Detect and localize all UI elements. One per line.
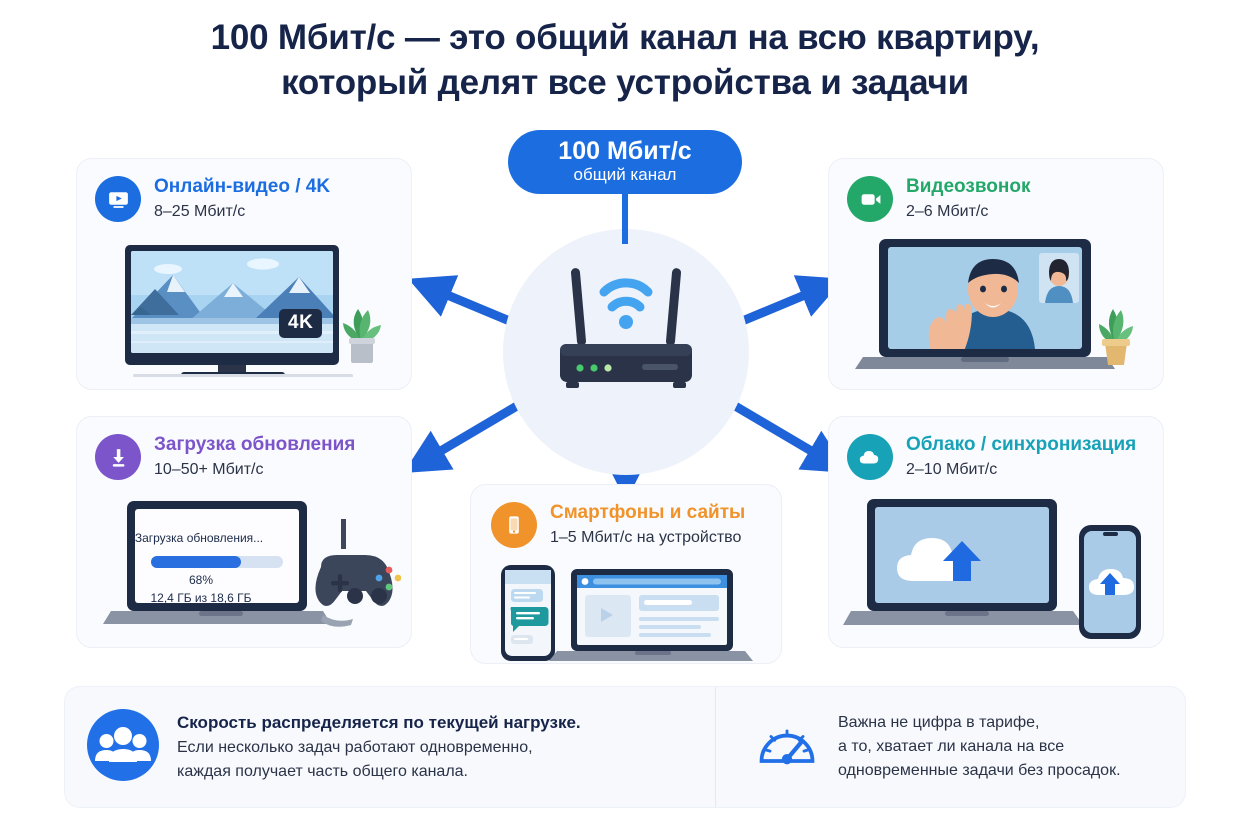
play-video-icon	[95, 176, 141, 222]
video-camera-icon	[847, 176, 893, 222]
wifi-router-icon	[520, 250, 732, 398]
hub-stem	[622, 192, 628, 244]
download-percent: 68%	[45, 573, 357, 587]
footer-right-line-3: одновременные задачи без просадок.	[838, 759, 1121, 783]
footer-right-text: Важна не цифра в тарифе, а то, хватает л…	[838, 711, 1121, 784]
tv-illustration: 4K	[93, 245, 393, 382]
card-header: Загрузка обновления 10–50+ Мбит/с	[77, 417, 411, 482]
download-illustration: Загрузка обновления... 68% 12,4 ГБ из 18…	[89, 501, 401, 651]
card-subtitle: 8–25 Мбит/с	[154, 200, 330, 224]
card-header: Онлайн-видео / 4K 8–25 Мбит/с	[77, 159, 411, 224]
footer-left-headline: Скорость распределяется по текущей нагру…	[177, 710, 581, 736]
download-size: 12,4 ГБ из 18,6 ГБ	[45, 591, 357, 605]
card-subtitle: 2–10 Мбит/с	[906, 458, 1136, 482]
footer-right-line-2: а то, хватает ли канала на все	[838, 735, 1121, 759]
card-subtitle: 10–50+ Мбит/с	[154, 458, 355, 482]
arrow-to-video	[428, 287, 512, 322]
card-subtitle: 2–6 Мбит/с	[906, 200, 1030, 224]
hub-speed: 100 Мбит/с	[558, 138, 691, 164]
footer-right-column: Важна не цифра в тарифе, а то, хватает л…	[715, 687, 1185, 807]
smartphone-icon	[491, 502, 537, 548]
card-header: Видеозвонок 2–6 Мбит/с	[829, 159, 1163, 224]
phones-sites-illustration	[495, 563, 765, 668]
users-group-icon	[87, 709, 159, 786]
card-cloud-sync[interactable]: Облако / синхронизация 2–10 Мбит/с	[828, 416, 1164, 648]
card-smartphones-sites[interactable]: Смартфоны и сайты 1–5 Мбит/с на устройст…	[470, 484, 782, 664]
download-caption: Загрузка обновления...	[43, 531, 355, 545]
card-video-call[interactable]: Видеозвонок 2–6 Мбит/с	[828, 158, 1164, 390]
hub-badge: 100 Мбит/с общий канал	[508, 130, 742, 194]
footer-right-line-1: Важна не цифра в тарифе,	[838, 711, 1121, 735]
footer-panel: Скорость распределяется по текущей нагру…	[64, 686, 1186, 808]
card-title: Онлайн-видео / 4K	[154, 176, 330, 198]
arrow-to-download	[422, 400, 527, 462]
arrow-to-call	[740, 287, 824, 322]
cloud-sync-illustration	[841, 499, 1153, 650]
card-header: Смартфоны и сайты 1–5 Мбит/с на устройст…	[471, 485, 781, 550]
footer-left-line-2: Если несколько задач работают одновремен…	[177, 736, 581, 760]
hub-label: общий канал	[574, 164, 677, 186]
arrow-to-cloud	[725, 400, 830, 462]
infographic-canvas: 100 Мбит/с — это общий канал на всю квар…	[0, 0, 1250, 833]
card-title: Загрузка обновления	[154, 434, 355, 456]
resolution-badge: 4K	[279, 309, 322, 338]
card-title: Видеозвонок	[906, 176, 1030, 198]
footer-left-text: Скорость распределяется по текущей нагру…	[177, 710, 581, 784]
speedometer-icon	[754, 712, 820, 783]
card-download-update[interactable]: Загрузка обновления 10–50+ Мбит/с	[76, 416, 412, 648]
cloud-icon	[847, 434, 893, 480]
card-title: Смартфоны и сайты	[550, 502, 745, 524]
card-online-video[interactable]: Онлайн-видео / 4K 8–25 Мбит/с	[76, 158, 412, 390]
footer-left-column: Скорость распределяется по текущей нагру…	[65, 687, 715, 807]
card-title: Облако / синхронизация	[906, 434, 1136, 456]
card-header: Облако / синхронизация 2–10 Мбит/с	[829, 417, 1163, 482]
video-call-illustration	[843, 239, 1148, 384]
download-arrow-icon	[95, 434, 141, 480]
footer-left-line-3: каждая получает часть общего канала.	[177, 760, 581, 784]
card-subtitle: 1–5 Мбит/с на устройство	[550, 526, 745, 550]
